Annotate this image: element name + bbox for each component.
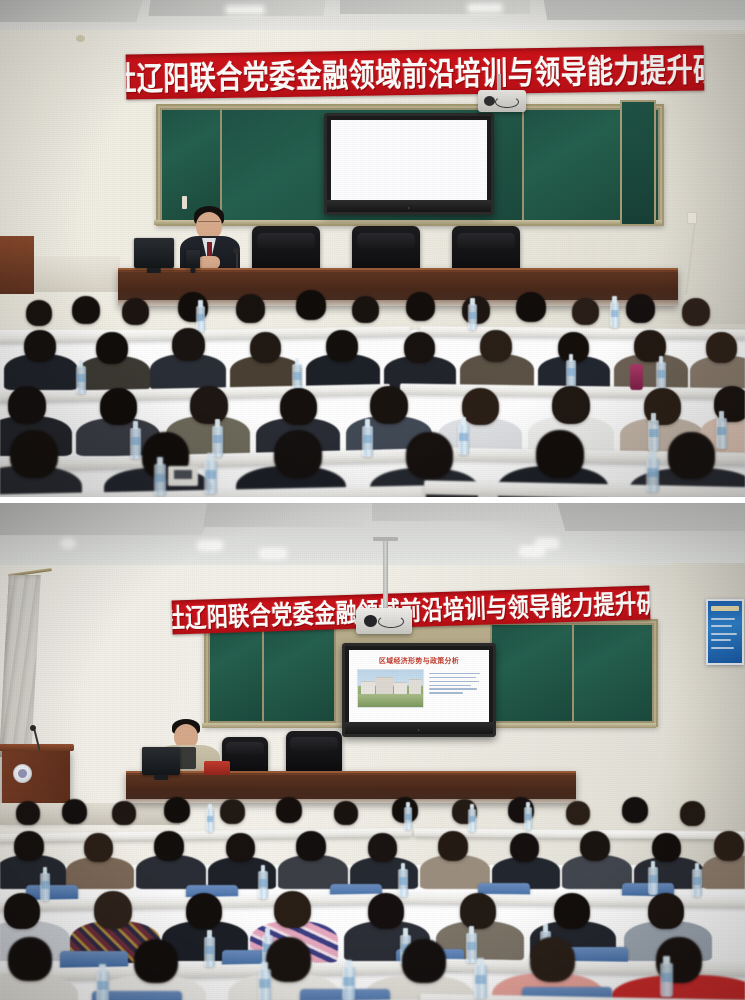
slide-building (409, 679, 422, 694)
water-bottle (204, 460, 217, 494)
speaker-glasses (198, 221, 220, 226)
poster-text-line (711, 647, 733, 649)
ceiling-panel (0, 0, 144, 22)
event-banner-top: 省联社辽阳联合党委金融领域前沿培训与领导能力提升研修班 (126, 45, 705, 99)
audience-head (580, 831, 610, 861)
audience-head (326, 330, 358, 362)
table-monitor (134, 238, 174, 268)
water-bottle (96, 971, 109, 1000)
ceiling-panel (0, 503, 218, 535)
photo-top: • 省联社辽阳联合党委金融领域前沿培训与领导能力提升研修班 (0, 0, 745, 497)
audience-head (510, 833, 539, 862)
speaker-inner-shirt (178, 747, 196, 769)
screen-display-area: 区域经济形势与政策分析 (349, 650, 489, 722)
audience-head (460, 893, 496, 929)
audience-head (406, 432, 453, 479)
audience-head (280, 388, 317, 425)
poster-text-line (711, 639, 731, 641)
podium-emblem (13, 764, 32, 783)
audience-head (668, 432, 715, 479)
ceiling-light (262, 551, 284, 556)
podium-microphone-head (30, 725, 36, 731)
ceiling-panel (203, 503, 369, 527)
screen-brand-logo: • (408, 205, 410, 210)
slide-text-line (429, 685, 472, 687)
audience-head (112, 801, 136, 825)
slide-plaza (358, 694, 422, 707)
table-red-object (204, 761, 230, 775)
poster-text-line (711, 618, 735, 620)
ceiling-light (538, 541, 556, 546)
audience-head (566, 801, 590, 825)
poster-text-line (711, 633, 736, 635)
audience-head (572, 298, 599, 325)
desk-microphone (236, 252, 238, 268)
audience-head (516, 292, 546, 322)
audience-head (10, 430, 58, 478)
water-bottle (660, 963, 673, 997)
audience-head (62, 799, 87, 824)
audience-head (84, 833, 113, 862)
ceiling-panel (372, 503, 562, 521)
exec-chair (252, 226, 320, 274)
audience-head (296, 290, 326, 320)
audience-head (274, 430, 322, 478)
audience-head (368, 893, 404, 929)
chalkboard-right-edge (620, 100, 656, 226)
audience-head (96, 332, 128, 364)
audience-head (122, 298, 149, 325)
screen-brand-logo: • (418, 727, 420, 732)
audience-head (8, 937, 52, 981)
audience-row (0, 891, 745, 953)
audience-head (8, 386, 46, 424)
audience-head (652, 833, 681, 862)
projector-mount-bracket (373, 537, 398, 541)
ceiling-light (228, 8, 262, 12)
projector-lens (364, 615, 377, 627)
audience-head (296, 831, 326, 861)
audience-head (154, 831, 184, 861)
audience-head (14, 831, 44, 861)
poster-title-bar (711, 606, 740, 611)
audience-head (706, 332, 737, 363)
slide-building (361, 681, 375, 695)
audience-head (402, 939, 446, 983)
event-banner-text: 省联社辽阳联合党委金融领域前沿培训与领导能力提升研修班 (126, 45, 705, 99)
water-bottle (154, 464, 166, 496)
ceiling-light (470, 6, 500, 10)
photo-bottom: 区域经济形势与政策分析 (0, 503, 745, 1000)
slide-building (394, 682, 407, 694)
ceiling-panel (543, 0, 745, 20)
audience-head (352, 296, 379, 323)
audience-head (250, 332, 281, 363)
audience-head (190, 386, 228, 424)
chalkboard-panel (262, 623, 336, 723)
desk-microphone (233, 248, 240, 254)
audience-head (94, 891, 132, 929)
table-monitor (142, 747, 180, 775)
audience-head (554, 893, 590, 929)
audience-head (558, 332, 589, 363)
exec-chair (352, 226, 420, 274)
audience-head (100, 388, 137, 425)
photo-collage: • 省联社辽阳联合党委金融领域前沿培训与领导能力提升研修班 (0, 0, 745, 1000)
audience-head (266, 937, 311, 982)
projection-screen-bottom: 区域经济形势与政策分析 (342, 643, 496, 737)
blank-slide (331, 120, 487, 200)
slide-text-line (429, 677, 476, 679)
audience-row (0, 278, 745, 330)
ceiling-light (522, 549, 542, 554)
ceiling-light (200, 543, 220, 548)
water-bottle (258, 969, 271, 1000)
audience-head (368, 833, 397, 862)
chalkboard-panel (572, 623, 654, 723)
water-bottle (474, 965, 487, 999)
chalkboard-panel (208, 623, 264, 723)
audience-head (226, 833, 255, 862)
audience-head (164, 797, 190, 823)
audience-head (626, 294, 655, 323)
slide-title: 区域经济形势与政策分析 (349, 656, 489, 666)
audience-head (16, 801, 40, 825)
audience-head (622, 797, 648, 823)
exec-chair (286, 731, 342, 773)
audience-head (648, 893, 684, 929)
audience-head (220, 799, 245, 824)
audience-head (530, 937, 575, 982)
audience-head (462, 388, 499, 425)
audience-bottom (0, 785, 745, 1000)
projector-mount-pole (383, 539, 388, 611)
slide-text-line (429, 688, 477, 690)
audience-head (26, 300, 52, 326)
audience-head (406, 292, 435, 321)
projector-cable (495, 96, 519, 108)
projector-cable (378, 615, 404, 628)
audience-head (172, 328, 205, 361)
audience-head (4, 893, 40, 929)
wall-socket (687, 212, 697, 224)
desk-device-screen (174, 470, 192, 479)
ceiling-panel (555, 503, 745, 531)
audience-row (0, 785, 745, 831)
wall-poster (706, 599, 744, 665)
audience-head (334, 801, 358, 825)
audience-head (236, 294, 265, 323)
audience-head (186, 893, 222, 929)
exec-chair (452, 226, 520, 274)
audience-top (0, 278, 745, 497)
audience-head (276, 797, 302, 823)
chalkboard-panel (160, 108, 222, 222)
screen-display-area (331, 120, 487, 200)
table-monitor (186, 250, 200, 268)
audience-head (404, 332, 435, 363)
audience-head (680, 801, 705, 826)
slide-text-line (429, 692, 463, 694)
audience-head (536, 430, 584, 478)
audience-head (682, 298, 710, 326)
presentation-slide: 区域经济形势与政策分析 (349, 650, 489, 722)
audience-head (480, 330, 512, 362)
projection-screen-top: • (324, 113, 494, 215)
slide-photo (357, 669, 423, 708)
water-bottle (646, 458, 659, 492)
audience-head (24, 330, 56, 362)
ceiling-panel (340, 0, 530, 14)
audience-head (370, 386, 408, 424)
chalkboard-panel (490, 623, 574, 723)
ceiling-light (63, 541, 73, 546)
audience-head (438, 831, 468, 861)
audience-row (0, 827, 745, 883)
slide-text-line (429, 681, 479, 683)
audience-head (714, 831, 744, 861)
slide-body-text (429, 670, 482, 696)
poster-text-line (711, 625, 732, 627)
water-bottle (342, 967, 355, 1000)
slide-building (376, 677, 393, 694)
slide-text-line (429, 673, 480, 675)
wall-mark (76, 35, 85, 42)
projector-lens (484, 96, 495, 106)
audience-head (72, 296, 100, 324)
audience-head (274, 891, 311, 928)
audience-head (134, 939, 178, 983)
audience-head (552, 386, 590, 424)
